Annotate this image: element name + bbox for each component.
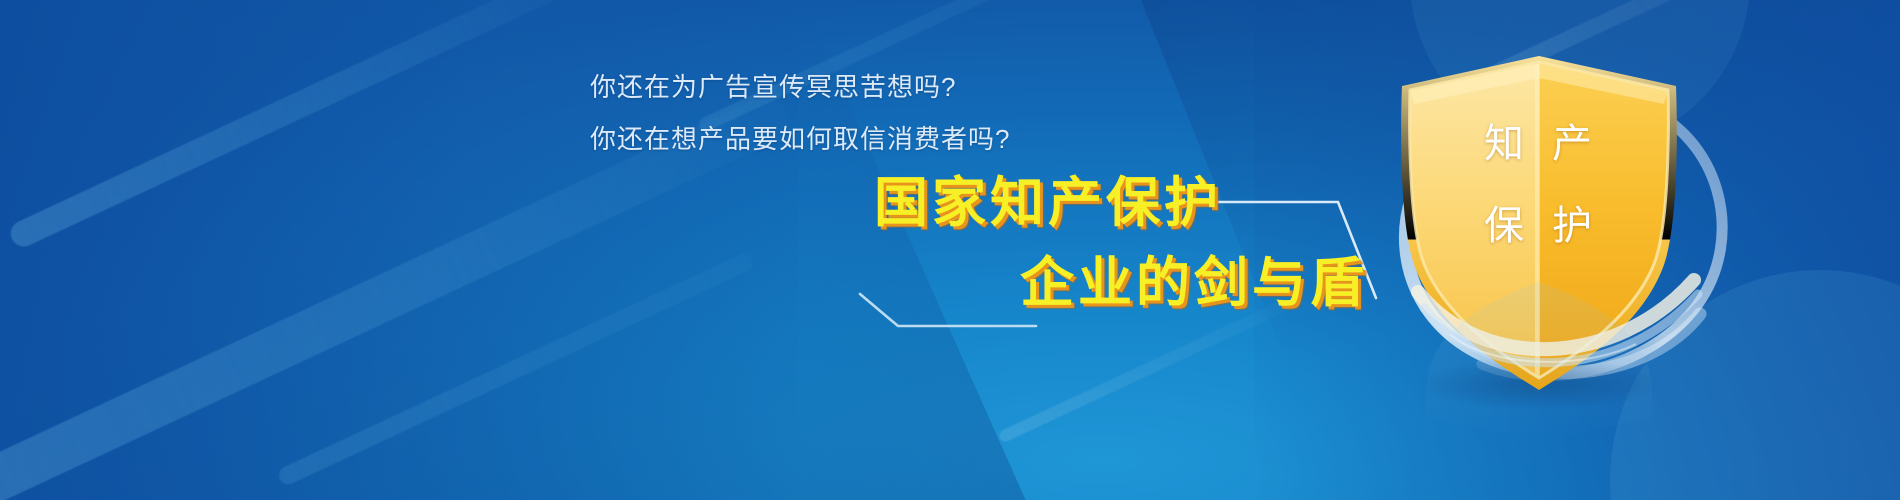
shield-emblem: 知 产 保 护 (1390, 46, 1790, 466)
headline-primary: 国家知产保护 (874, 176, 1222, 230)
promo-banner: 你还在为广告宣传冥思苦想吗? 你还在想产品要如何取信消费者吗? 国家知产保护 企… (0, 0, 1900, 500)
subtitle-group: 你还在为广告宣传冥思苦想吗? 你还在想产品要如何取信消费者吗? (590, 74, 1010, 178)
subtitle-line-2: 你还在想产品要如何取信消费者吗? (590, 126, 1010, 152)
headline-secondary: 企业的剑与盾 (1020, 256, 1368, 310)
subtitle-line-1: 你还在为广告宣传冥思苦想吗? (590, 74, 1010, 100)
headline-group: 国家知产保护 企业的剑与盾 (0, 168, 1400, 328)
shield-graphic-icon (1390, 46, 1790, 466)
